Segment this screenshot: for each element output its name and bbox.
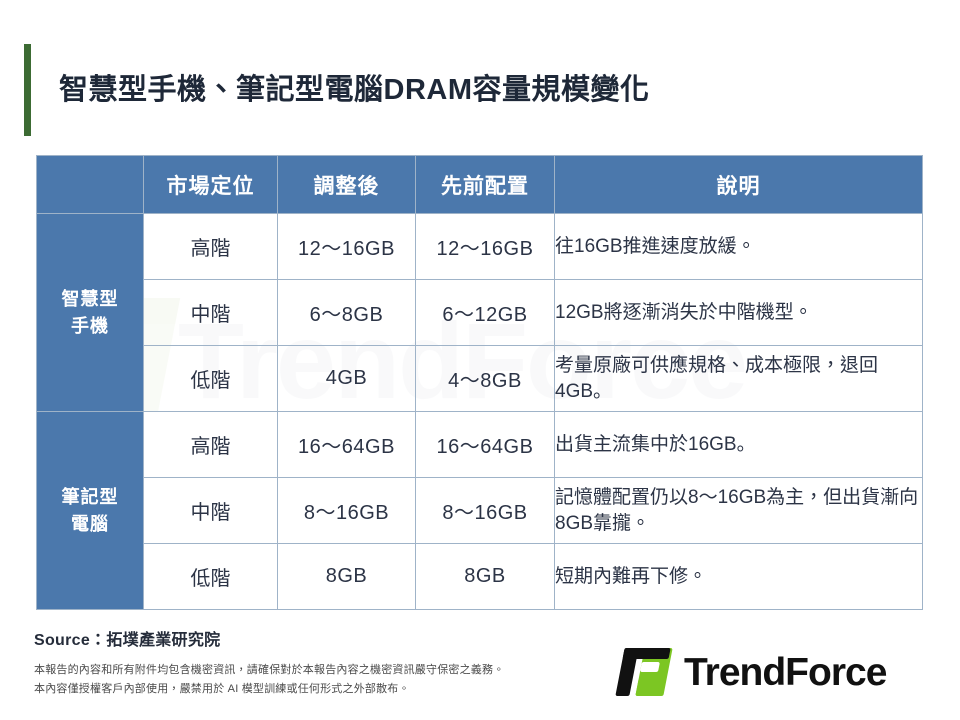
column-header-category: [37, 156, 144, 214]
tier-cell: 低階: [144, 346, 278, 412]
trendforce-logo-mark-icon: [613, 648, 676, 696]
table-row: 中階 6～8GB 6～12GB 12GB將逐漸消失於中階機型。: [37, 280, 923, 346]
table-body: 智慧型 手機 高階 12～16GB 12～16GB 往16GB推進速度放緩。 中…: [37, 214, 923, 610]
adjusted-cell: 16～64GB: [278, 412, 416, 478]
note-cell: 出貨主流集中於16GB。: [555, 412, 923, 478]
category-cell-notebook: 筆記型 電腦: [37, 412, 144, 610]
table-header-row: 市場定位 調整後 先前配置 說明: [37, 156, 923, 214]
title-block: 智慧型手機、筆記型電腦DRAM容量規模變化: [24, 44, 904, 136]
category-cell-smartphone: 智慧型 手機: [37, 214, 144, 412]
table-row: 智慧型 手機 高階 12～16GB 12～16GB 往16GB推進速度放緩。: [37, 214, 923, 280]
table-row: 筆記型 電腦 高階 16～64GB 16～64GB 出貨主流集中於16GB。: [37, 412, 923, 478]
tier-cell: 高階: [144, 412, 278, 478]
column-header-previous: 先前配置: [416, 156, 555, 214]
adjusted-cell: 12～16GB: [278, 214, 416, 280]
note-cell: 記憶體配置仍以8～16GB為主，但出貨漸向8GB靠攏。: [555, 478, 923, 544]
column-header-positioning: 市場定位: [144, 156, 278, 214]
note-cell: 往16GB推進速度放緩。: [555, 214, 923, 280]
tier-cell: 中階: [144, 478, 278, 544]
tier-cell: 低階: [144, 544, 278, 610]
previous-cell: 8～16GB: [416, 478, 555, 544]
column-header-note: 說明: [555, 156, 923, 214]
tier-cell: 中階: [144, 280, 278, 346]
table-row: 低階 4GB 4～8GB 考量原廠可供應規格、成本極限，退回4GB。: [37, 346, 923, 412]
adjusted-cell: 4GB: [278, 346, 416, 412]
trendforce-logo: TrendForce: [618, 646, 936, 698]
tier-cell: 高階: [144, 214, 278, 280]
category-label-line1: 智慧型: [62, 289, 119, 309]
previous-cell: 8GB: [416, 544, 555, 610]
column-header-adjusted: 調整後: [278, 156, 416, 214]
page-title: 智慧型手機、筆記型電腦DRAM容量規模變化: [59, 73, 650, 108]
adjusted-cell: 6～8GB: [278, 280, 416, 346]
previous-cell: 16～64GB: [416, 412, 555, 478]
adjusted-cell: 8～16GB: [278, 478, 416, 544]
table-row: 低階 8GB 8GB 短期內難再下修。: [37, 544, 923, 610]
category-label-line2: 電腦: [71, 514, 109, 534]
table-row: 中階 8～16GB 8～16GB 記憶體配置仍以8～16GB為主，但出貨漸向8G…: [37, 478, 923, 544]
category-label-line2: 手機: [71, 316, 109, 336]
adjusted-cell: 8GB: [278, 544, 416, 610]
previous-cell: 6～12GB: [416, 280, 555, 346]
trendforce-wordmark: TrendForce: [684, 653, 886, 692]
note-cell: 考量原廠可供應規格、成本極限，退回4GB。: [555, 346, 923, 412]
previous-cell: 4～8GB: [416, 346, 555, 412]
title-accent-bar: [24, 44, 31, 136]
note-cell: 短期內難再下修。: [555, 544, 923, 610]
table-header: 市場定位 調整後 先前配置 說明: [37, 156, 923, 214]
category-label-line1: 筆記型: [62, 487, 119, 507]
dram-capacity-table: 市場定位 調整後 先前配置 說明 智慧型 手機 高階 12～16GB 12～16…: [36, 155, 923, 610]
previous-cell: 12～16GB: [416, 214, 555, 280]
note-cell: 12GB將逐漸消失於中階機型。: [555, 280, 923, 346]
